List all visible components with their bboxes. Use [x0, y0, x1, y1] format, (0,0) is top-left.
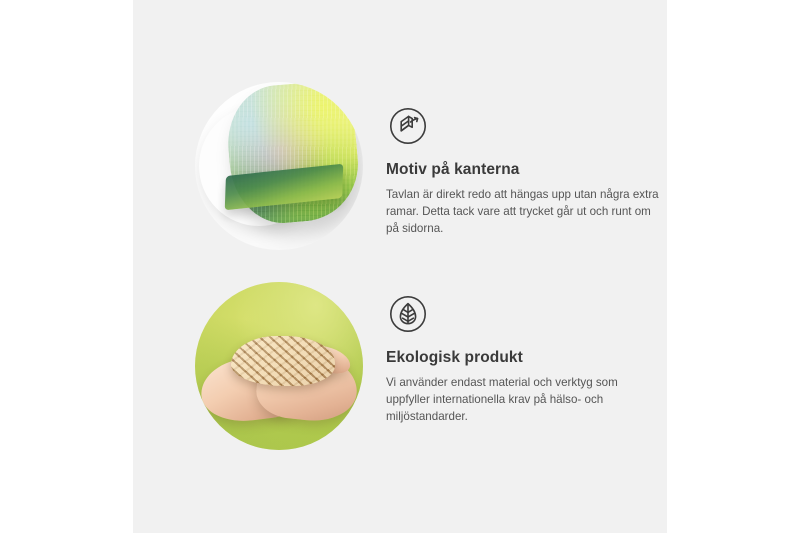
wood-chips-photo: [195, 282, 363, 450]
feature-image-eco: [195, 282, 363, 450]
feature-text-eco: Ekologisk produkt Vi använder endast mat…: [386, 292, 660, 425]
leaf-icon: [386, 292, 430, 336]
feature-text-edges: Motiv på kanterna Tavlan är direkt redo …: [386, 104, 660, 237]
feature-description-edges: Tavlan är direkt redo att hängas upp uta…: [386, 186, 660, 237]
feature-title-edges: Motiv på kanterna: [386, 161, 660, 179]
feature-description-eco: Vi använder endast material och verktyg …: [386, 374, 660, 425]
wood-chips: [231, 336, 335, 386]
canvas-print-photo: [195, 82, 363, 250]
feature-block-eco: Ekologisk produkt Vi använder endast mat…: [133, 262, 667, 462]
content-panel: Motiv på kanterna Tavlan är direkt redo …: [133, 0, 667, 533]
canvas-wrapped-edge-icon: [386, 104, 430, 148]
feature-image-edges: [195, 82, 363, 250]
feature-title-eco: Ekologisk produkt: [386, 349, 660, 367]
feature-block-edges: Motiv på kanterna Tavlan är direkt redo …: [133, 62, 667, 262]
product-feature-infographic: Motiv på kanterna Tavlan är direkt redo …: [0, 0, 800, 533]
